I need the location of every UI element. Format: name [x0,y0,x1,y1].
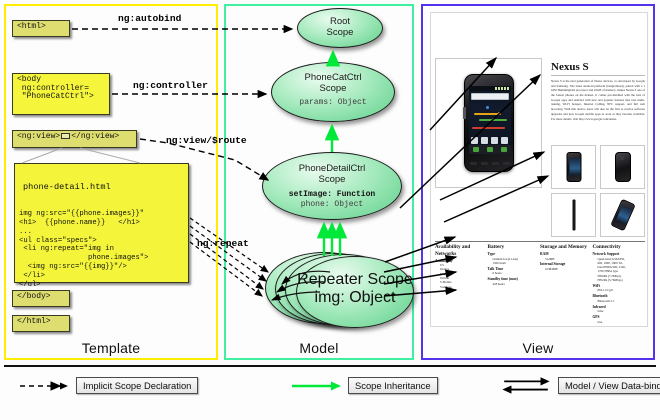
scope-root-title-2: Scope [298,28,382,39]
wallpaper-dot-3 [492,118,495,121]
thumbnail-phone-tilted[interactable] [600,193,645,237]
section-label-model: Model [226,340,412,356]
wallpaper-stripe-1 [474,113,500,115]
spec-header-battery: Battery [488,244,538,251]
legend-label-implicit-scope-declaration: Implicit Scope Declaration [76,377,198,394]
key-home-icon [503,162,510,165]
phone-spec-table: Availability and Networks Availability U… [435,241,645,329]
spec-value: Bluetooth 2.1 [593,299,643,303]
app-icon-3 [491,137,498,144]
spec-column-storage: Storage and Memory RAM 512MB Internal St… [540,244,593,324]
code-tag-html: <html> [12,20,70,37]
callout-title: phone-detail.html [15,180,188,194]
dock-icon-1 [473,147,479,152]
wallpaper-stripe-3 [472,127,505,129]
scope-repeater-prop-img: img: Object [315,289,396,306]
callout-phone-detail-template: phone-detail.html img ng:src="{{phone.im… [14,163,189,283]
app-icon-4 [501,137,508,144]
phone-statusbar [469,86,511,91]
view-page-description: Nexus S is the next generation of Nexus … [551,79,645,121]
scope-phonedetailctrl-prop-setimage: setImage: Function [263,190,401,200]
phone-back-icon [615,152,631,182]
app-icon-2 [481,137,488,144]
green-arrow-icon [290,378,342,394]
view-page-title: Nexus S [551,61,589,73]
spec-value: Vodafone [435,285,485,289]
scope-root: Root Scope [297,8,383,48]
legend-label-model-view-data-binding: Model / View Data-binding [558,377,660,394]
legend-divider [4,365,656,367]
phone-dock [469,145,511,154]
legend-item-model-view-data-binding: Model / View Data-binding [500,375,660,395]
ngview-placeholder-icon [61,133,70,139]
spec-value: 16384MB [540,267,590,271]
view-title-divider [551,75,645,76]
spec-header-connectivity: Connectivity [593,244,643,251]
angular-scope-diagram: Template Model View <html> <body ng:cont… [0,0,660,420]
spec-value: false [593,309,643,313]
spec-value: 6 hours [488,271,538,275]
phone-speaker-icon [482,79,496,81]
phone-side-button-icon [463,107,466,119]
edge-label-ng-controller: ng:controller [133,80,208,91]
app-icon-1 [471,137,478,144]
spec-value: 428 hours [488,282,538,286]
spec-value: 802.11 b/g/n [593,288,643,292]
scope-phonedetailctrl: PhoneDetailCtrl Scope setImage: Function… [262,152,402,220]
wallpaper-dot-2 [498,112,501,115]
phone-hardware-keys [470,162,510,167]
scope-repeater: Repeater Scope img: Object [296,256,414,328]
spec-header-storage: Storage and Memory [540,244,590,251]
spec-column-availability: Availability and Networks Availability U… [435,244,488,324]
dock-icon-2 [487,147,493,152]
code-tag-body-end: </body> [12,290,70,307]
code-tag-body: <body ng:controller= "PhoneCatCtrl"> [12,73,110,115]
phone-screen [469,86,511,154]
wallpaper-dot-1 [486,106,489,109]
edge-label-ng-repeat: ng:repeat [197,238,249,249]
code-tag-html-end: </html> [12,315,70,332]
spec-value: true [593,320,643,324]
section-label-template: Template [6,340,216,356]
spec-header-availability: Availability and Networks [435,244,485,257]
legend-item-implicit-scope-declaration: Implicit Scope Declaration [18,377,198,394]
key-menu-icon [481,162,488,165]
dashed-arrow-icon [18,378,70,394]
spec-value: 512MB [540,257,590,261]
phone-illustration [464,74,514,172]
thumbnail-phone-front[interactable] [551,145,596,189]
spec-column-connectivity: Connectivity Network Support Quad-band G… [593,244,646,324]
scope-phonecatctrl-prop-params: params: Object [272,98,394,108]
section-label-view: View [423,340,653,356]
ngview-close-text: </ng:view> [71,132,119,141]
phone-edge-icon [572,200,575,231]
double-arrow-icon [500,375,552,395]
scope-repeater-title-1: Repeater [297,271,363,288]
ngview-open-text: <ng:view> [17,132,60,141]
spec-value: HSUPA (5.76Mbps) [593,278,643,282]
phone-search-widget [471,93,509,100]
phone-front-icon [566,152,581,182]
scope-phonedetailctrl-prop-phone: phone: Object [263,200,401,210]
edge-label-ng-autobind: ng:autobind [118,13,181,24]
spec-columns: Availability and Networks Availability U… [435,242,645,324]
code-tag-ngview: <ng:view></ng:view> [12,130,137,148]
phone-main-image [435,58,542,188]
phone-thumbnail-grid [551,145,647,237]
scope-phonedetailctrl-title-2: Scope [263,175,401,186]
callout-code: img ng:src="{{phone.images}}" <h1> {{pho… [15,209,188,300]
thumbnail-phone-edge[interactable] [551,193,596,237]
phone-app-icon-row [471,137,509,144]
dock-icon-3 [501,147,507,152]
spec-column-battery: Battery Type Lithium Ion (Li-Ion) 1500 m… [488,244,541,324]
key-back-icon [470,162,477,165]
scope-repeater-title-2: Scope [367,271,412,288]
thumbnail-phone-back[interactable] [600,145,645,189]
legend-item-scope-inheritance: Scope Inheritance [290,377,438,394]
scope-phonecatctrl: PhoneCatCtrl Scope params: Object [271,62,395,122]
key-search-icon [492,162,499,165]
edge-label-ng-view-route: ng:view/$route [166,135,247,146]
spec-value: 1500 mAh [488,261,538,265]
legend: Implicit Scope Declaration Scope Inherit… [0,363,660,420]
legend-label-scope-inheritance: Scope Inheritance [348,377,438,394]
phone-tilted-icon [610,199,635,232]
view-rendered-page: Nexus S Nexus S is the next generation o… [430,12,648,327]
scope-phonecatctrl-title-2: Scope [272,84,394,95]
